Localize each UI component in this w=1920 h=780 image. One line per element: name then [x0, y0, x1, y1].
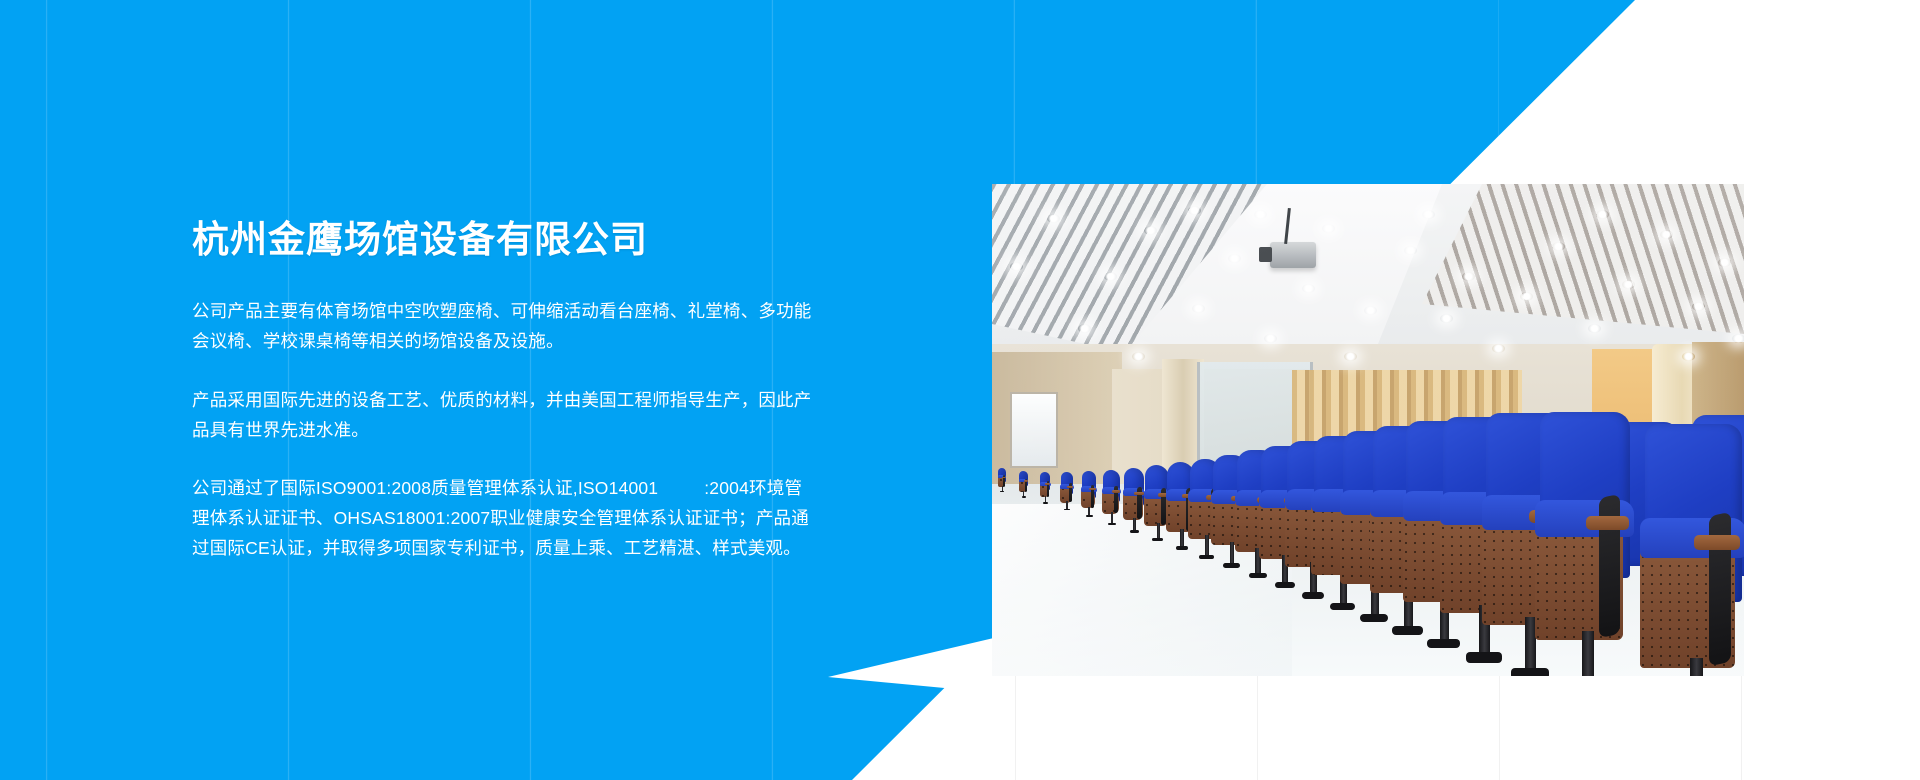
hero-paragraph-products: 公司产品主要有体育场馆中空吹塑座椅、可伸缩活动看台座椅、礼堂椅、多功能会议椅、学… [192, 296, 812, 356]
hero-banner: 杭州金鹰场馆设备有限公司 公司产品主要有体育场馆中空吹塑座椅、可伸缩活动看台座椅… [0, 0, 1920, 780]
seat-foot [1000, 491, 1004, 492]
seat-foot [1176, 546, 1189, 550]
hero-paragraph-certifications: 公司通过了国际ISO9001:2008质量管理体系认证,ISO14001:200… [192, 473, 812, 563]
seat-foot [1043, 502, 1048, 503]
hero-paragraph-quality: 产品采用国际先进的设备工艺、优质的材料，并由美国工程师指导生产，因此产品具有世界… [192, 385, 812, 445]
seat-armrest-top [1694, 535, 1740, 550]
seat-foot [1152, 538, 1163, 541]
seat-leg [1133, 518, 1136, 531]
seat-leg [1157, 523, 1160, 538]
auditorium-seat [1039, 184, 1051, 676]
seat-foot [1130, 530, 1139, 533]
seat-armrest-top [1134, 492, 1144, 495]
seat-armrest-top [1045, 483, 1050, 485]
auditorium-seat [1019, 184, 1029, 676]
seat-armrest-top [1586, 516, 1629, 530]
page-title: 杭州金鹰场馆设备有限公司 [192, 218, 812, 262]
auditorium-seat [1533, 184, 1643, 676]
certification-line-part-1: 公司通过了国际ISO9001:2008质量管理体系认证,ISO14001 [192, 478, 658, 498]
seat-leg [1690, 658, 1703, 676]
seat-armrest-top [1112, 490, 1120, 493]
auditorium-photo [992, 184, 1744, 676]
auditorium-photo-scene [992, 184, 1744, 676]
auditorium-seat [1081, 184, 1099, 676]
seat-foot [1064, 509, 1070, 511]
seat-leg [1582, 631, 1594, 676]
auditorium-seat [998, 184, 1007, 676]
auditorium-seat [1101, 184, 1122, 676]
seat-leg [1180, 529, 1184, 547]
auditorium-seat [1638, 184, 1744, 676]
seat-armrest-top [1067, 486, 1073, 488]
seat-armrest-top [1024, 480, 1028, 481]
seat-foot [1108, 523, 1116, 525]
seat-foot [1022, 496, 1026, 497]
seat-leg [1111, 512, 1113, 523]
seat-leg [1066, 501, 1068, 509]
seat-leg [1205, 535, 1209, 555]
hero-text-column: 杭州金鹰场馆设备有限公司 公司产品主要有体育场馆中空吹塑座椅、可伸缩活动看台座椅… [192, 218, 812, 563]
auditorium-seat [1060, 184, 1075, 676]
seat-armrest-top [1002, 477, 1006, 478]
seat-foot [1086, 515, 1093, 517]
